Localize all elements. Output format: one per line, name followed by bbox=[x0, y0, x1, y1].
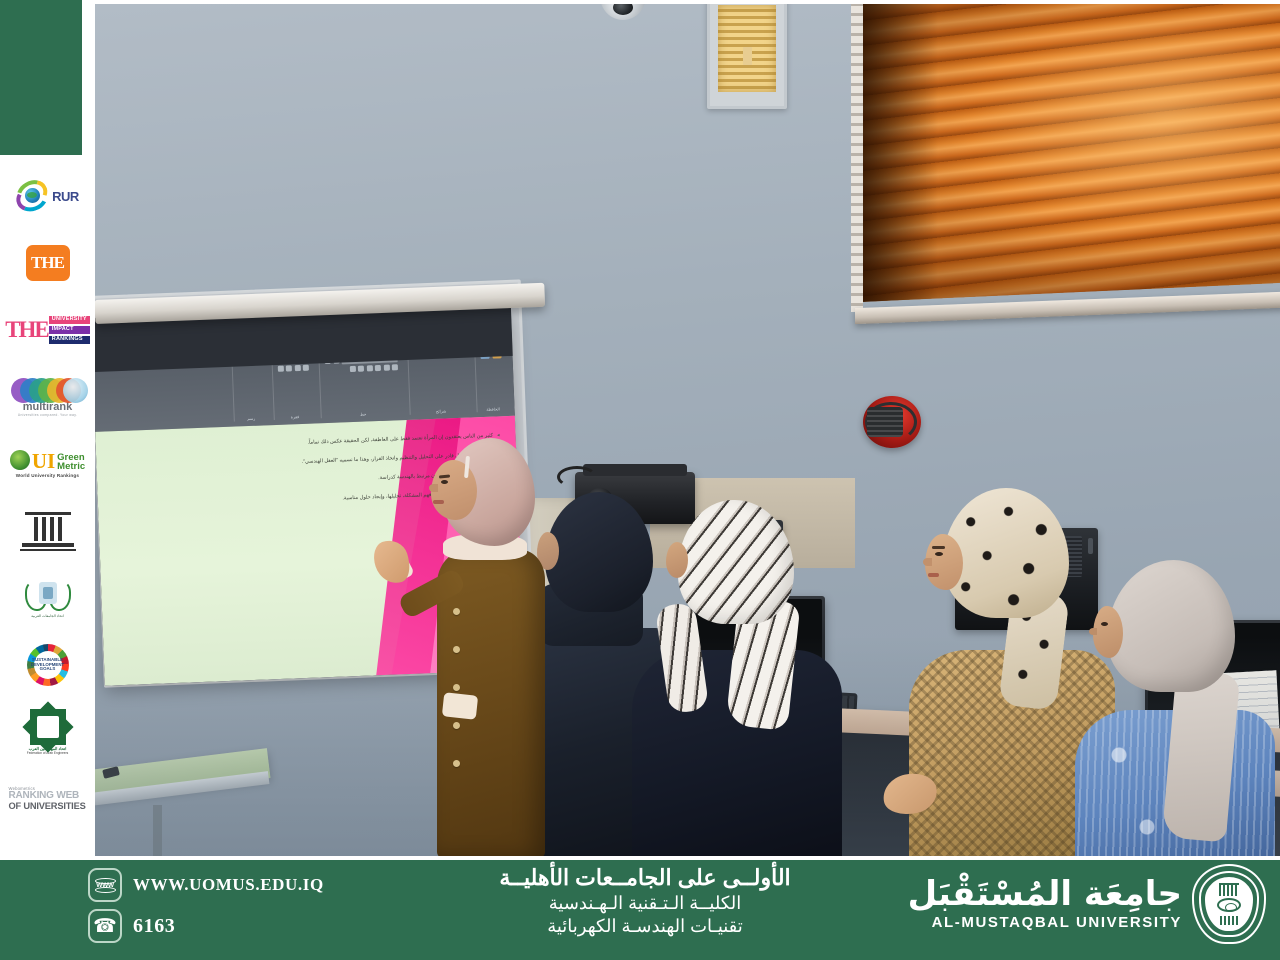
greenmetric-tagline: World University Rankings bbox=[16, 474, 79, 479]
sdg-wheel-icon: SUSTAINABLE DEVELOPMENT GOALS bbox=[27, 644, 69, 686]
university-shield-icon bbox=[1192, 864, 1266, 944]
the-impact-the-label: THE bbox=[5, 313, 48, 347]
footer-contact-block: WWW WWW.UOMUS.EDU.IQ ☎ 6163 bbox=[88, 868, 324, 943]
webometrics-line-3: OF UNIVERSITIES bbox=[9, 802, 86, 812]
the-impact-line-1: UNIVERSITY bbox=[49, 316, 90, 324]
laurel-wreath-icon bbox=[23, 579, 73, 613]
sustainable-development-goals-badge[interactable]: SUSTAINABLE DEVELOPMENT GOALS bbox=[9, 636, 87, 694]
footer-divider bbox=[95, 0, 1280, 4]
footer-bar: WWW WWW.UOMUS.EDU.IQ ☎ 6163 الأولــى على… bbox=[0, 860, 1280, 960]
institution-columns-badge[interactable] bbox=[9, 502, 87, 560]
u-multirank-badge[interactable]: multirank Universities compared. Your wa… bbox=[9, 368, 87, 426]
rur-ranking-badge[interactable]: RUR bbox=[9, 167, 87, 225]
window-blinds bbox=[860, 0, 1280, 302]
the-impact-rankings-badge[interactable]: THE UNIVERSITY IMPACT RANKINGS bbox=[9, 301, 87, 359]
footer-college-name: الكليــة الـتـقنية الـهـندسية bbox=[410, 892, 880, 915]
footer-headline: الأولــى على الجامــعات الأهليــة bbox=[410, 864, 880, 892]
student-3-nose bbox=[923, 558, 932, 566]
student-4-nose bbox=[1089, 628, 1097, 635]
student-4-eye bbox=[1101, 622, 1108, 626]
presenter-sleeve-cuff bbox=[442, 692, 478, 719]
green-globe-icon bbox=[10, 450, 30, 470]
student-4-face bbox=[1093, 606, 1123, 658]
footer-department-name: تقنيـات الهندسـة الكهربائية bbox=[410, 915, 880, 938]
brand-name-english: AL-MUSTAQBAL UNIVERSITY bbox=[908, 914, 1182, 931]
accreditation-badge-strip: RUR THE THE UNIVERSITY IMPACT RANKINGS bbox=[0, 155, 95, 860]
the-impact-line-3: RANKINGS bbox=[49, 336, 90, 344]
fire-alarm-bell-icon bbox=[863, 396, 921, 448]
the-ranking-badge[interactable]: THE bbox=[9, 234, 87, 292]
phone-label: 6163 bbox=[133, 915, 175, 938]
presenter-eye bbox=[441, 480, 448, 484]
brand-name-arabic: جامِعَة المُسْتَقْبَل bbox=[908, 877, 1182, 913]
ribbon-group-paragraph[interactable]: فقرة bbox=[271, 356, 316, 420]
group-label-paragraph: فقرة bbox=[279, 414, 311, 420]
university-brand-lockup: جامِعَة المُسْتَقْبَل AL-MUSTAQBAL UNIVE… bbox=[908, 864, 1266, 944]
student-3-eye bbox=[935, 552, 943, 556]
group-label-slides: شرائح bbox=[416, 408, 467, 415]
greenmetric-metric-label: Metric bbox=[57, 462, 85, 472]
ribbon-group-clipboard[interactable]: الحافظة bbox=[474, 349, 508, 412]
student-4-hijab bbox=[1107, 560, 1235, 692]
the-impact-bars: UNIVERSITY IMPACT RANKINGS bbox=[49, 313, 90, 347]
the-label: THE bbox=[31, 253, 64, 273]
rur-label: RUR bbox=[52, 189, 79, 204]
ui-greenmetric-badge[interactable]: UI Green Metric World University Ranking… bbox=[9, 435, 87, 493]
ribbon-group-drawing[interactable]: رسم bbox=[231, 358, 268, 421]
student-3-eyebrow bbox=[932, 546, 945, 549]
sidebar: RUR THE THE UNIVERSITY IMPACT RANKINGS bbox=[0, 0, 95, 960]
footer-center-text: الأولــى على الجامــعات الأهليــة الكليـ… bbox=[410, 864, 880, 938]
columns-building-icon bbox=[20, 512, 76, 551]
phone-ring-icon: ☎ bbox=[88, 909, 122, 943]
globe-www-icon: WWW bbox=[88, 868, 122, 902]
wall-ventilation-grille-icon bbox=[707, 0, 787, 109]
arab-universities-caption: اتحاد الجامعات العربية bbox=[31, 614, 63, 618]
blinds-left-edge bbox=[851, 0, 863, 312]
website-row[interactable]: WWW WWW.UOMUS.EDU.IQ bbox=[88, 868, 324, 902]
multirank-tagline: Universities compared. Your way. bbox=[18, 413, 77, 417]
rur-arc-icon bbox=[16, 181, 50, 211]
group-label-clipboard: الحافظة bbox=[482, 406, 503, 412]
student-4 bbox=[1085, 560, 1280, 856]
student-3-lips bbox=[928, 573, 939, 577]
webometrics-ranking-web-badge[interactable]: Webometrics RANKING WEB OF UNIVERSITIES bbox=[9, 770, 87, 828]
classroom-presentation-photo: عرض تقديمي 1 - تم الحفظ في الأقسام المحف… bbox=[95, 0, 1280, 856]
student-2-face bbox=[666, 542, 688, 578]
multirank-circles-icon bbox=[11, 378, 85, 404]
poster-page: RUR THE THE UNIVERSITY IMPACT RANKINGS bbox=[0, 0, 1280, 960]
presenter-lips bbox=[433, 500, 444, 504]
student-2 bbox=[640, 500, 850, 856]
eight-point-star-icon bbox=[30, 709, 66, 745]
presenter bbox=[385, 438, 575, 856]
ribbon-group-slides[interactable]: شرائح bbox=[407, 350, 471, 414]
sidebar-green-block bbox=[0, 0, 82, 155]
presenter-nose bbox=[429, 484, 438, 492]
group-label-font: خط bbox=[327, 410, 400, 418]
webometrics-line-2: RANKING WEB bbox=[9, 791, 80, 802]
website-label: WWW.UOMUS.EDU.IQ bbox=[133, 875, 324, 895]
greenmetric-ui-label: UI bbox=[32, 451, 55, 472]
group-label-drawing: رسم bbox=[239, 415, 263, 421]
student-2-hijab bbox=[678, 500, 794, 624]
association-of-arab-universities-badge[interactable]: اتحاد الجامعات العربية bbox=[9, 569, 87, 627]
the-logo-icon: THE bbox=[26, 245, 70, 281]
the-impact-line-2: IMPACT bbox=[49, 326, 90, 334]
sdg-label: SUSTAINABLE DEVELOPMENT GOALS bbox=[31, 658, 64, 673]
federation-of-arab-engineers-badge[interactable]: اتحاد المهندسين العرب Federation of Arab… bbox=[9, 703, 87, 761]
phone-row[interactable]: ☎ 6163 bbox=[88, 909, 324, 943]
